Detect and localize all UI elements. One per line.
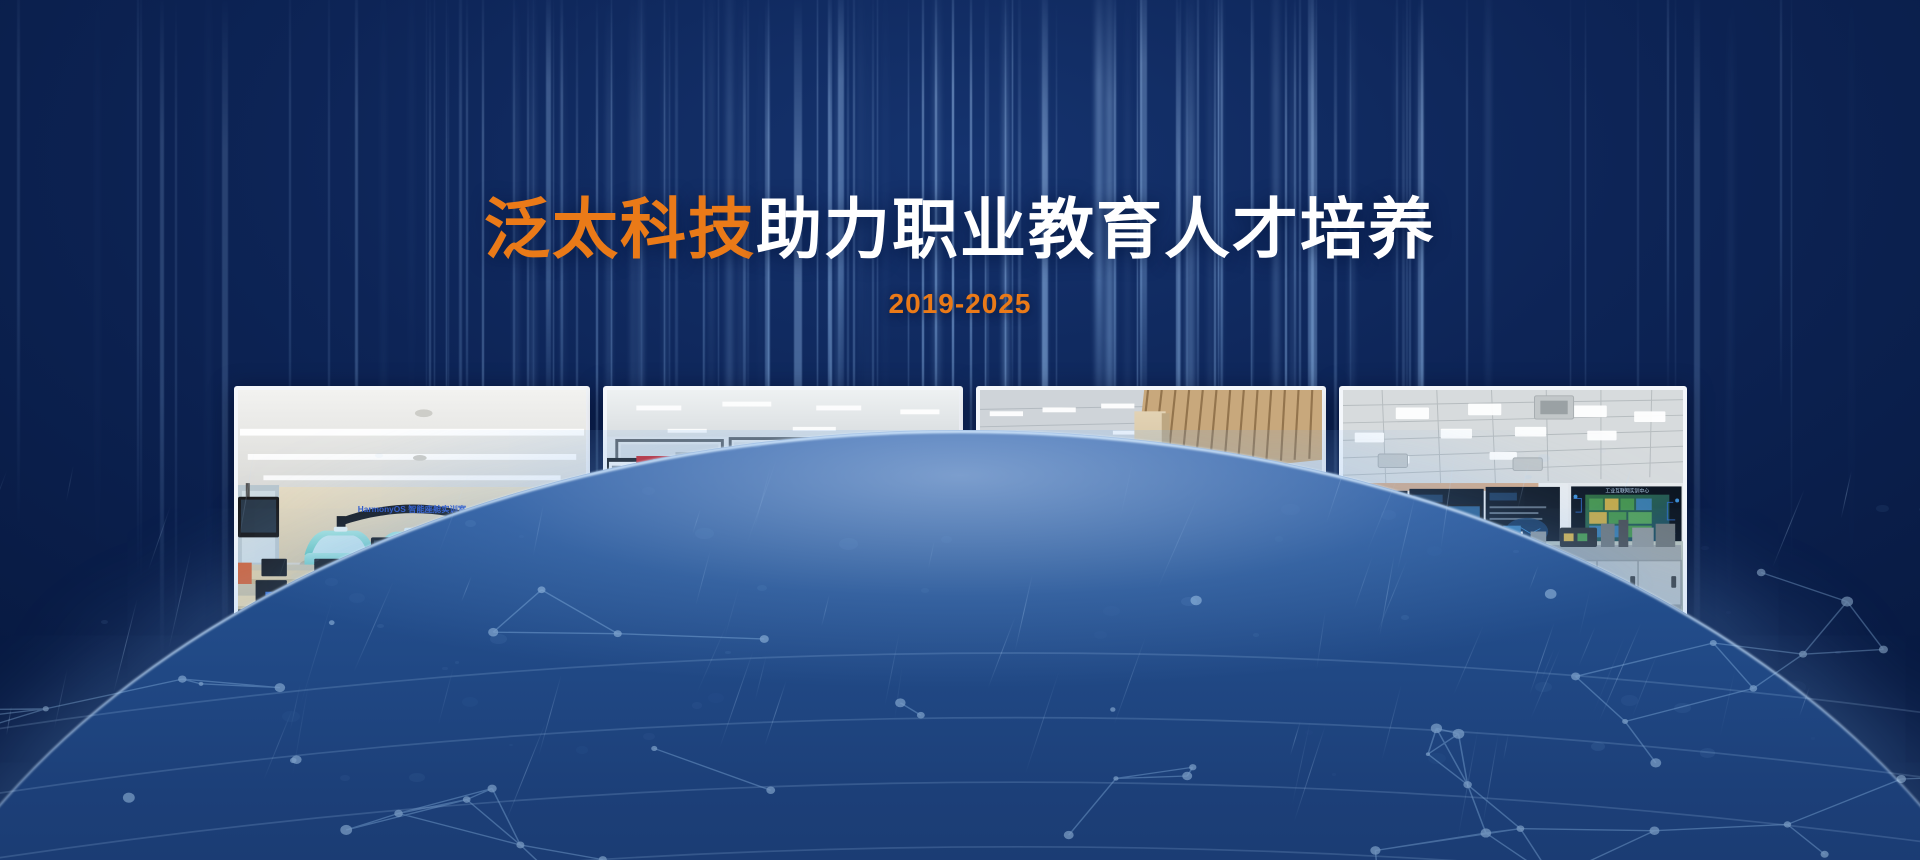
title-block: 泛太科技助力职业教育人才培养 2019-2025 (0, 196, 1920, 320)
page-title-brand: 泛太科技 (484, 192, 756, 266)
earth-horizon-graphic (0, 430, 1920, 860)
network-mesh-overlay (0, 430, 1920, 860)
banner-stage: 泛太科技助力职业教育人才培养 2019-2025 (0, 0, 1920, 860)
page-title-rest: 助力职业教育人才培养 (756, 192, 1436, 266)
page-subtitle-years: 2019-2025 (0, 288, 1920, 320)
page-title: 泛太科技助力职业教育人才培养 (0, 196, 1920, 262)
